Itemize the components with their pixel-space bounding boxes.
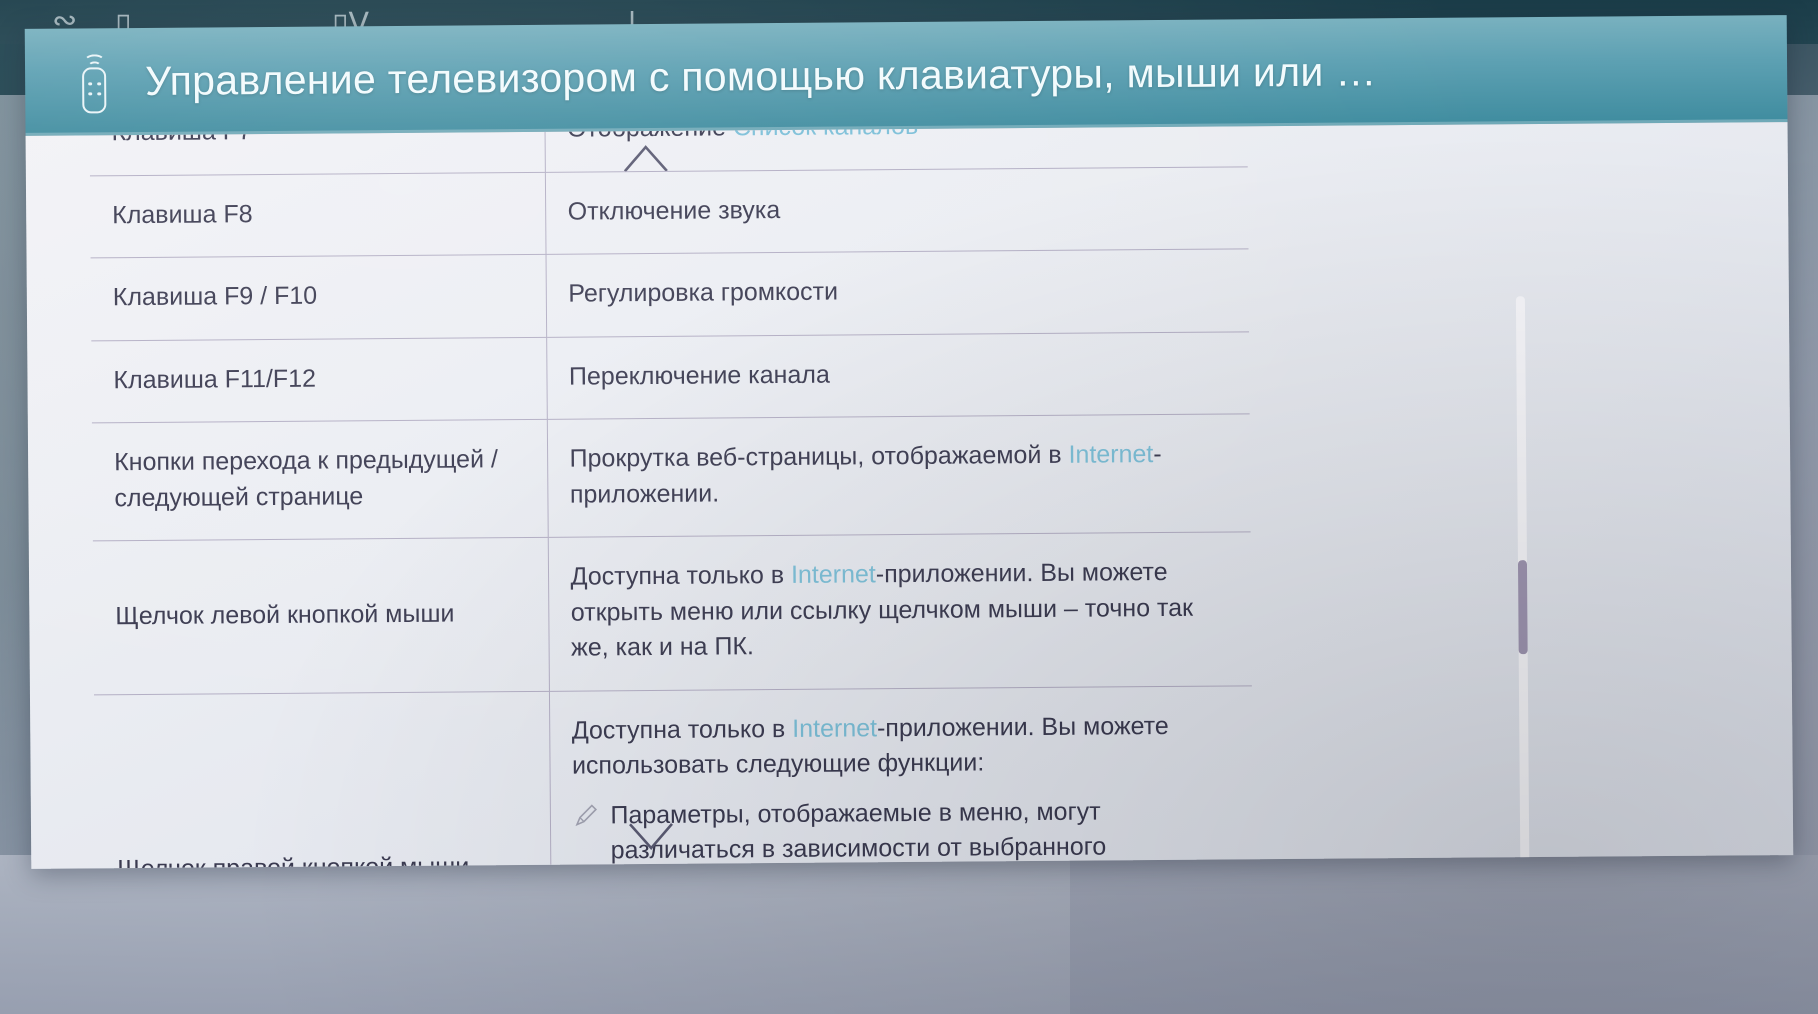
table-cell-description: Переключение канала xyxy=(546,331,1250,419)
pencil-icon xyxy=(572,802,610,832)
table-cell-key: Щелчок правой кнопкой мыши xyxy=(94,691,552,869)
remote-control-icon xyxy=(77,51,111,113)
dialog-body: Клавиша F7Отображение Список каналовКлав… xyxy=(26,122,1794,869)
table-cell-key: Кнопки перехода к предыдущей / следующей… xyxy=(92,419,548,541)
background-panel-bottom-left xyxy=(0,855,1070,1014)
inline-link[interactable]: Internet xyxy=(1068,440,1153,469)
dialog-titlebar: Управление телевизором с помощью клавиат… xyxy=(25,15,1788,136)
table-row: Щелчок левой кнопкой мышиДоступна только… xyxy=(93,532,1252,695)
table-row: Клавиша F8Отключение звука xyxy=(90,166,1249,258)
scrollbar-thumb[interactable] xyxy=(1518,560,1528,654)
dialog-title: Управление телевизором с помощью клавиат… xyxy=(145,48,1377,105)
table-cell-description: Отображение Список каналов xyxy=(544,126,1248,172)
table-cell-key: Щелчок левой кнопкой мыши xyxy=(93,537,549,694)
table-scroll-viewport[interactable]: Клавиша F7Отображение Список каналовКлав… xyxy=(90,126,1254,868)
table-row: Клавиша F11/F12Переключение канала xyxy=(91,331,1250,423)
table-cell-description: Доступна только в Internet-приложении. В… xyxy=(548,532,1252,691)
tv-screen: ∾ ▯ ▯V | ⌄ ⌄ Управление телевизором с по… xyxy=(0,0,1818,1014)
inline-link[interactable]: Internet xyxy=(792,714,877,743)
table-cell-description: Регулировка громкости xyxy=(546,249,1250,337)
table-cell-description: Отключение звука xyxy=(545,166,1249,254)
help-dialog: Управление телевизором с помощью клавиат… xyxy=(25,15,1794,869)
table-cell-key: Клавиша F8 xyxy=(90,172,546,258)
background-panel-bottom-right xyxy=(1070,855,1818,1014)
inline-link[interactable]: Internet xyxy=(791,560,876,589)
vertical-scrollbar[interactable] xyxy=(1516,296,1530,869)
shortcuts-table: Клавиша F7Отображение Список каналовКлав… xyxy=(90,126,1254,868)
table-cell-key: Клавиша F9 / F10 xyxy=(91,254,547,340)
note-text: Параметры, отображаемые в меню, могут ра… xyxy=(610,793,1227,868)
table-cell-description: Прокрутка веб-страницы, отображаемой в I… xyxy=(547,414,1251,538)
table-row: Клавиша F9 / F10Регулировка громкости xyxy=(91,249,1250,341)
table-row: Кнопки перехода к предыдущей / следующей… xyxy=(92,414,1251,541)
scroll-down-chevron-icon[interactable] xyxy=(622,804,680,862)
table-cell-key: Клавиша F11/F12 xyxy=(91,337,547,423)
